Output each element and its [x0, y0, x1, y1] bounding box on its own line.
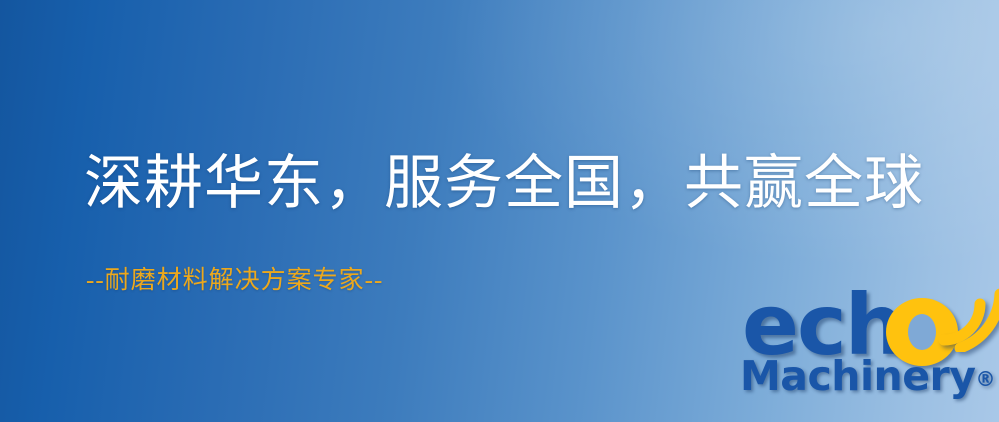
- banner-subtitle: --耐磨材料解决方案专家--: [86, 266, 383, 296]
- logo-tagline-text: Machinery: [740, 352, 975, 400]
- echo-signal-waves-icon: [934, 288, 999, 352]
- banner-headline: 深耕华东，服务全国，共赢全球: [84, 152, 924, 215]
- registered-trademark-icon: ®: [975, 367, 995, 391]
- promo-banner: 深耕华东，服务全国，共赢全球 --耐磨材料解决方案专家-- ech Machin…: [0, 0, 999, 422]
- logo-letter-o-hole: [908, 314, 936, 350]
- company-logo: ech Machinery®: [738, 292, 993, 420]
- logo-tagline: Machinery®: [740, 356, 995, 397]
